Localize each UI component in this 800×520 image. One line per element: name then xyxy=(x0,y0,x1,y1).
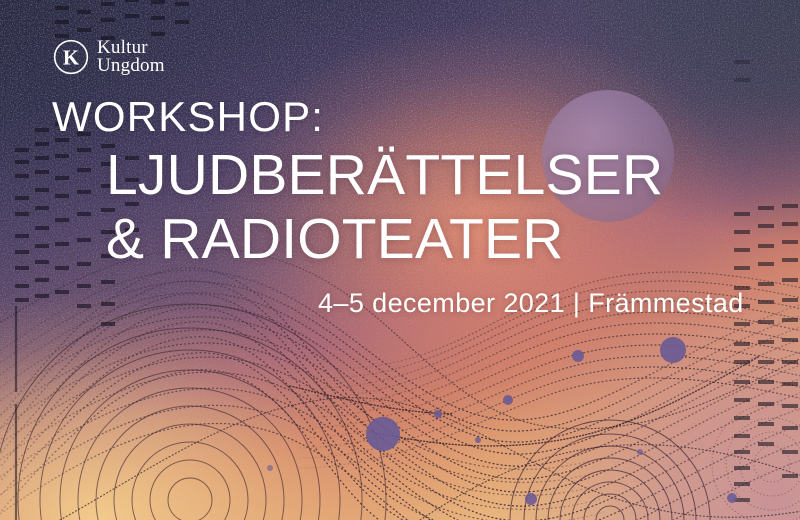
event-date-location: 4–5 december 2021 | Främmestad xyxy=(318,290,744,317)
title-line-1: LJUDBERÄTTELSER xyxy=(106,143,663,207)
title-line-2: & RADIOTEATER xyxy=(106,207,663,271)
svg-text:K: K xyxy=(63,46,80,70)
poster-content: K Kultur Ungdom WORKSHOP: LJUDBERÄTTELSE… xyxy=(0,0,800,520)
kultur-ungdom-logo[interactable]: K Kultur Ungdom xyxy=(52,38,165,76)
circled-k-logo-icon: K xyxy=(52,38,90,76)
logo-word-line2: Ungdom xyxy=(97,57,165,75)
eyebrow-workshop-label: WORKSHOP: xyxy=(52,96,324,138)
poster-canvas: K Kultur Ungdom WORKSHOP: LJUDBERÄTTELSE… xyxy=(0,0,800,520)
logo-wordmark: Kultur Ungdom xyxy=(97,39,165,75)
page-title: LJUDBERÄTTELSER & RADIOTEATER xyxy=(106,143,663,272)
